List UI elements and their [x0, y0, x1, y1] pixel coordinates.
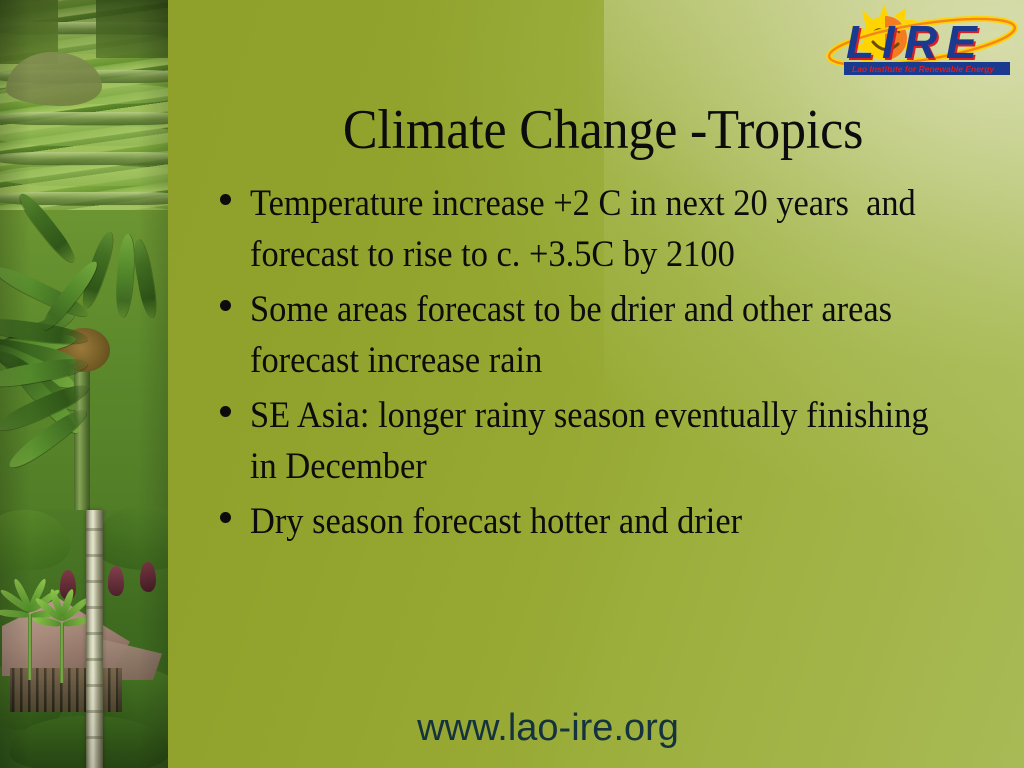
slide-canvas: L L I I R R E E Lao Institute for Renewa…	[0, 0, 1024, 768]
photo-vignette	[0, 0, 168, 768]
rice-terraces-palm-hut-photo	[0, 0, 168, 768]
list-item-text: Temperature increase +2 C in next 20 yea…	[250, 178, 946, 280]
list-item: Temperature increase +2 C in next 20 yea…	[186, 178, 998, 280]
list-item: Some areas forecast to be drier and othe…	[186, 284, 998, 386]
bullet-list: Temperature increase +2 C in next 20 yea…	[186, 178, 998, 551]
bullet-dot-icon	[220, 512, 231, 523]
slide-content: Climate Change -Tropics Temperature incr…	[168, 0, 1024, 768]
list-item-text: Some areas forecast to be drier and othe…	[250, 284, 946, 386]
bullet-dot-icon	[220, 406, 231, 417]
list-item: SE Asia: longer rainy season eventually …	[186, 390, 998, 492]
bullet-dot-icon	[220, 300, 231, 311]
list-item-text: SE Asia: longer rainy season eventually …	[250, 390, 946, 492]
website-url[interactable]: www.lao-ire.org	[168, 706, 928, 750]
list-item: Dry season forecast hotter and drier	[186, 496, 998, 547]
page-title: Climate Change -Tropics	[236, 99, 971, 161]
bullet-dot-icon	[220, 194, 231, 205]
list-item-text: Dry season forecast hotter and drier	[250, 496, 946, 547]
